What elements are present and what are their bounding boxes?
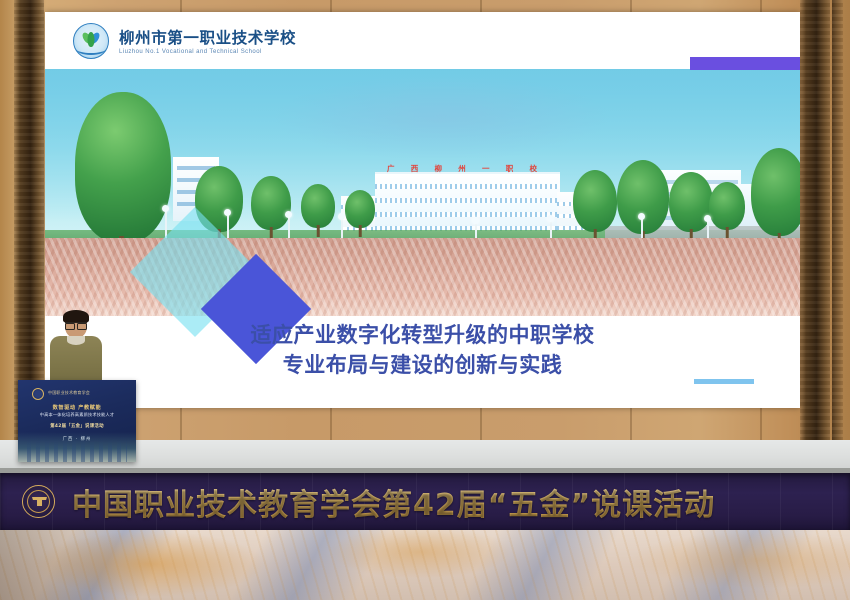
- roof-char: 一: [482, 163, 490, 174]
- event-banner: 中国职业技术教育学会第42届“五金”说课活动: [0, 473, 850, 530]
- campus-tree: [573, 170, 617, 232]
- campus-tree: [751, 148, 800, 236]
- campus-tree: [251, 176, 291, 230]
- glasses-icon: [65, 322, 87, 327]
- lamp-post: [288, 216, 290, 240]
- school-name-block: 柳州市第一职业技术学校 Liuzhou No.1 Vocational and …: [119, 26, 296, 55]
- podium-panel: 中国职业技术教育学会 数智驱动 产教赋能 中高本一体化培养高素质技术技能人才 第…: [18, 380, 136, 462]
- lamp-post: [341, 218, 343, 240]
- school-name-en: Liuzhou No.1 Vocational and Technical Sc…: [119, 49, 296, 55]
- podium-emblem-icon: [32, 388, 44, 400]
- slide-header: 柳州市第一职业技术学校 Liuzhou No.1 Vocational and …: [45, 12, 800, 69]
- accent-bar-purple: [690, 57, 800, 70]
- campus-tree: [345, 190, 375, 228]
- projection-screen[interactable]: 柳州市第一职业技术学校 Liuzhou No.1 Vocational and …: [45, 12, 800, 408]
- speaker-presenter: [48, 312, 104, 390]
- cavte-emblem-icon: [22, 485, 55, 518]
- speaker-collar: [67, 336, 85, 345]
- podium-org-label: 中国职业技术教育学会: [48, 390, 90, 396]
- podium-line-2: 中高本一体化培养高素质技术技能人才: [18, 412, 136, 418]
- building-roof-sign: 广 西 柳 州 一 职 校: [387, 163, 537, 174]
- wooden-pillar-right: [800, 0, 830, 470]
- school-name-cn: 柳州市第一职业技术学校: [119, 26, 296, 48]
- campus-tree: [709, 182, 745, 230]
- podium-line-3: 第42届「五金」说课活动: [18, 423, 136, 429]
- podium-group: 中国职业技术教育学会 数智驱动 产教赋能 中高本一体化培养高素质技术技能人才 第…: [18, 312, 138, 462]
- roof-char: 职: [506, 163, 514, 174]
- patterned-carpet: [0, 530, 850, 600]
- slide-title-line-2: 专业布局与建设的创新与实践: [45, 350, 800, 380]
- wooden-pillar-right-outer: [832, 0, 843, 470]
- school-emblem-icon: [73, 23, 109, 59]
- campus-tree: [75, 92, 171, 242]
- slide-title: 适应产业数字化转型升级的中职学校 专业布局与建设的创新与实践: [45, 320, 800, 380]
- roof-char: 校: [530, 163, 538, 174]
- podium-skyline-graphic: [18, 432, 136, 462]
- lamp-post: [227, 214, 229, 240]
- roof-char: 广: [387, 163, 395, 174]
- podium-line-1: 数智驱动 产教赋能: [18, 404, 136, 411]
- slide-title-line-1: 适应产业数字化转型升级的中职学校: [45, 320, 800, 350]
- campus-tree: [617, 160, 669, 234]
- campus-tree: [301, 184, 335, 228]
- venue-scene: 柳州市第一职业技术学校 Liuzhou No.1 Vocational and …: [0, 0, 850, 600]
- roof-char: 州: [458, 163, 466, 174]
- roof-char: 柳: [435, 163, 443, 174]
- carpet-shadow: [0, 530, 120, 600]
- event-banner-text: 中国职业技术教育学会第42届“五金”说课活动: [72, 480, 715, 524]
- roof-char: 西: [411, 163, 419, 174]
